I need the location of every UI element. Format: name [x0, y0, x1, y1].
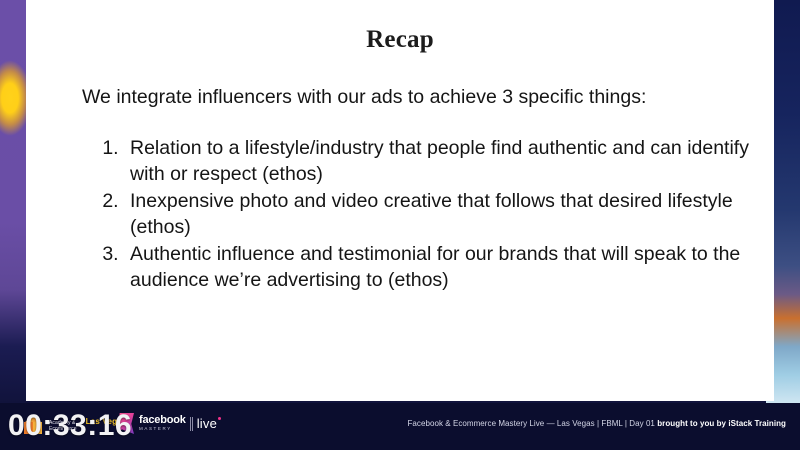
footer-credit-sponsor: brought to you by iStack Training [657, 419, 786, 428]
list-item: Relation to a lifestyle/industry that pe… [124, 136, 784, 188]
footer-credit-event: Facebook & Ecommerce Mastery Live — Las … [407, 419, 654, 428]
slide-title: Recap [26, 26, 774, 54]
live-indicator-dot [218, 417, 221, 420]
facebook-logo-subtitle: MASTERY [139, 427, 186, 432]
video-player-frame: Recap We integrate influencers with our … [0, 0, 800, 450]
presentation-slide: Recap We integrate influencers with our … [26, 0, 774, 401]
list-item: Authentic influence and testimonial for … [124, 242, 784, 294]
live-badge: live [197, 416, 217, 431]
facebook-logo-name: facebook [139, 415, 186, 426]
footer-credit: Facebook & Ecommerce Mastery Live — Las … [407, 419, 786, 428]
slide-numbered-list: Relation to a lifestyle/industry that pe… [88, 136, 784, 295]
live-badge-label: live [197, 416, 217, 431]
facebook-logo-wordmark: facebook MASTERY live [139, 415, 217, 432]
logo-separator-bars [190, 417, 193, 431]
slide-intro-text: We integrate influencers with our ads to… [82, 85, 742, 109]
playback-timestamp: 00:33:16 [8, 411, 132, 441]
list-item: Inexpensive photo and video creative tha… [124, 189, 784, 241]
